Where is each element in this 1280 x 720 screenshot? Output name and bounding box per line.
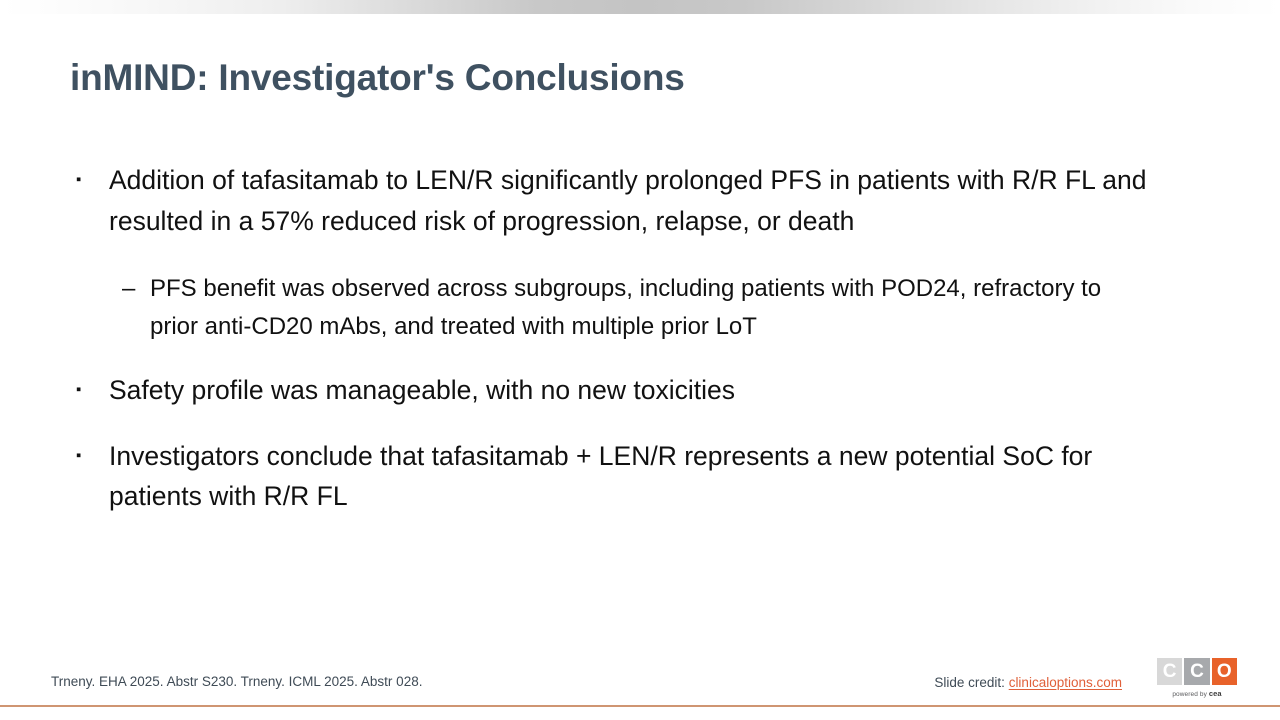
cco-logo-squares: C C O — [1157, 658, 1237, 685]
dash-bullet-icon: – — [122, 270, 135, 308]
logo-tagline-brand: cea — [1209, 689, 1222, 698]
sub-bullet-text: PFS benefit was observed across subgroup… — [150, 275, 1101, 340]
logo-tagline-prefix: powered by — [1172, 691, 1209, 698]
bullet-item: ▪ Addition of tafasitamab to LEN/R signi… — [70, 160, 1210, 241]
bullet-text: Safety profile was manageable, with no n… — [109, 375, 735, 405]
logo-letter-c2: C — [1184, 658, 1209, 685]
bullet-item: ▪ Safety profile was manageable, with no… — [70, 370, 1110, 411]
spacer — [70, 418, 1220, 436]
page-title: inMIND: Investigator's Conclusions — [70, 57, 1210, 100]
cco-logo: C C O powered by cea — [1157, 658, 1237, 702]
clinicaloptions-link[interactable]: clinicaloptions.com — [1009, 675, 1122, 690]
spacer — [70, 352, 1220, 370]
bullet-text: Investigators conclude that tafasitamab … — [109, 441, 1092, 512]
citation-text: Trneny. EHA 2025. Abstr S230. Trneny. IC… — [51, 674, 422, 689]
logo-letter-o: O — [1212, 658, 1237, 685]
square-bullet-icon: ▪ — [76, 436, 81, 477]
bullet-text: Addition of tafasitamab to LEN/R signifi… — [109, 165, 1146, 236]
square-bullet-icon: ▪ — [76, 370, 81, 411]
slide-credit-label: Slide credit: — [934, 675, 1008, 690]
slide-credit: Slide credit: clinicaloptions.com — [934, 675, 1122, 690]
logo-tagline: powered by cea — [1157, 689, 1237, 698]
top-gradient-band — [0, 0, 1280, 14]
sub-bullet-item: – PFS benefit was observed across subgro… — [70, 270, 1145, 346]
footer-divider — [0, 705, 1280, 707]
square-bullet-icon: ▪ — [76, 160, 81, 201]
spacer — [70, 248, 1220, 266]
logo-letter-c1: C — [1157, 658, 1182, 685]
slide-body: ▪ Addition of tafasitamab to LEN/R signi… — [70, 160, 1220, 524]
bullet-item: ▪ Investigators conclude that tafasitama… — [70, 436, 1120, 517]
